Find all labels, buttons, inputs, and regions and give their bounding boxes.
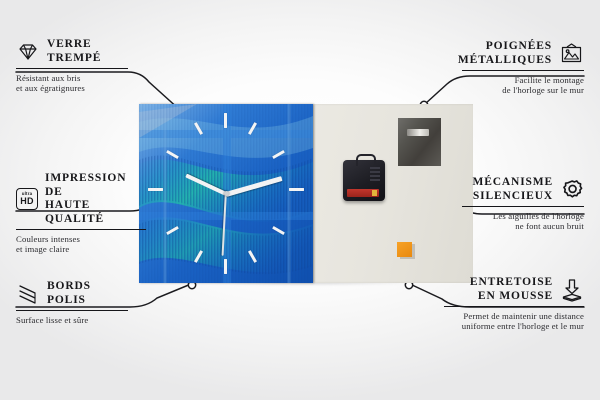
feature-verre-trempe: VERRE TREMPÉ Résistant aux bris et aux é… xyxy=(16,38,128,94)
battery xyxy=(347,189,379,197)
mechanism-bail xyxy=(356,154,376,166)
divider xyxy=(444,306,584,307)
feature-impression-haute-qualite: ultra HD IMPRESSION DE HAUTE QUALITÉ Cou… xyxy=(16,172,146,255)
divider xyxy=(462,70,584,71)
tick-6 xyxy=(224,259,227,274)
divider xyxy=(16,68,128,69)
tick-9 xyxy=(148,188,163,191)
feature-title-line1: VERRE xyxy=(47,38,101,52)
foam-spacer-icon xyxy=(560,278,584,302)
feature-poignees-metalliques: POIGNÉES MÉTALLIQUES Facilite le montage… xyxy=(462,40,584,96)
feature-title-line2: EN MOUSSE xyxy=(470,290,553,304)
feature-mecanisme-silencieux: MÉCANISME SILENCIEUX Les aiguilles de l'… xyxy=(462,176,584,232)
feature-caption-line2: uniforme entre l'horloge et le mur xyxy=(444,321,584,332)
feature-caption-line1: Les aiguilles de l'horloge xyxy=(462,211,584,222)
product-photo xyxy=(139,104,473,283)
ultra-hd-icon: ultra HD xyxy=(16,188,38,210)
divider xyxy=(16,310,128,311)
foam-spacer-pad xyxy=(397,242,412,257)
feature-caption-line2: et image claire xyxy=(16,244,146,255)
feature-title-line2: SILENCIEUX xyxy=(473,190,554,204)
gear-icon xyxy=(560,178,584,201)
feature-title-line1: MÉCANISME xyxy=(473,176,554,190)
hanging-frame-icon xyxy=(559,43,584,65)
polished-edge-icon xyxy=(16,284,40,304)
feature-caption-line1: Résistant aux bris xyxy=(16,73,128,84)
feature-caption-line1: Surface lisse et sûre xyxy=(16,315,128,326)
diamond-icon xyxy=(16,42,40,62)
feature-title-line1: POIGNÉES xyxy=(458,40,552,54)
feature-caption-line1: Permet de maintenir une distance xyxy=(444,311,584,322)
feature-bords-polis: BORDS POLIS Surface lisse et sûre xyxy=(16,280,128,325)
feature-title-line1: ENTRETOISE xyxy=(470,276,553,290)
feature-title-line2: MÉTALLIQUES xyxy=(458,54,552,68)
center-pin xyxy=(224,191,229,196)
infographic-canvas: VERRE TREMPÉ Résistant aux bris et aux é… xyxy=(0,0,600,400)
feature-title-line2: POLIS xyxy=(47,294,91,308)
ultra-hd-icon-main: HD xyxy=(20,197,33,206)
feature-caption-line1: Facilite le montage xyxy=(462,75,584,86)
feature-title-line2: HAUTE QUALITÉ xyxy=(45,199,146,226)
mechanism-vents xyxy=(370,167,380,181)
feature-caption-line2: ne font aucun bruit xyxy=(462,221,584,232)
divider xyxy=(462,206,584,207)
feature-entretoise-en-mousse: ENTRETOISE EN MOUSSE Permet de maintenir… xyxy=(444,276,584,332)
feature-title-line1: BORDS xyxy=(47,280,91,294)
tick-3 xyxy=(289,188,304,191)
hanger-slot xyxy=(407,129,429,136)
metal-hanger-plate xyxy=(398,118,441,166)
feature-title-line1: IMPRESSION DE xyxy=(45,172,146,199)
feature-caption-line1: Couleurs intenses xyxy=(16,234,146,245)
clock-mechanism xyxy=(343,160,385,201)
feature-title-line2: TREMPÉ xyxy=(47,52,101,66)
tick-12 xyxy=(224,113,227,128)
clock-face xyxy=(139,104,313,283)
divider xyxy=(16,229,146,230)
clock-back-panel xyxy=(313,104,473,283)
feature-caption-line2: de l'horloge sur le mur xyxy=(462,85,584,96)
feature-caption-line2: et aux égratignures xyxy=(16,83,128,94)
